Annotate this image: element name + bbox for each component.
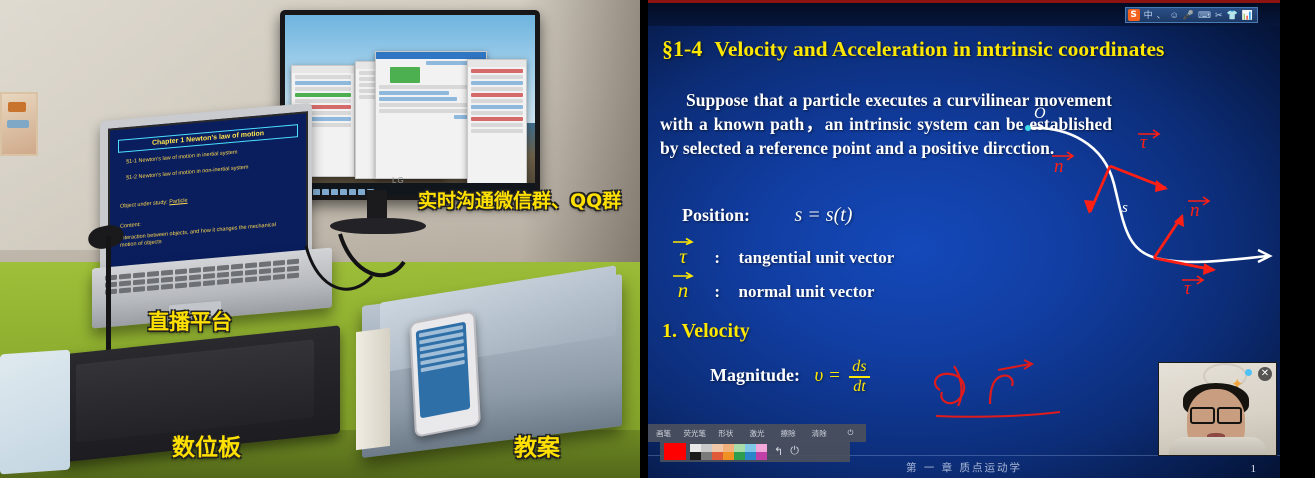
position-label: Position: [682,205,750,225]
definition-normal: n : normal unit vector [670,278,874,303]
classroom-desk-photo: LG Chapter 1 Newton's law of motion §1-1… [0,0,640,478]
ime-screenshot-icon[interactable]: ✂ [1215,9,1223,21]
position-equation: s = s(t) [795,204,853,226]
magnitude-row: Magnitude: υ = ds dt [710,358,870,396]
slide-footer-text: 第 一 章 质点运动学 [906,460,1022,475]
laptop-bullet-2-label: Content: [120,222,141,230]
origin-label: O [1034,105,1046,122]
caption-live-platform: 直播平台 [148,306,232,336]
laptop-screen: Chapter 1 Newton's law of motion §1-1 Ne… [108,111,308,272]
monitor-brand-label: LG [392,176,405,185]
monitor-base [330,218,426,234]
ime-voice-icon[interactable]: 🎤 [1183,9,1194,21]
caption-lesson-plan: 教案 [514,428,560,462]
annotation-color-palette[interactable]: ↰ ⏻ [660,441,850,462]
ime-chinese-mode-icon[interactable]: 中 [1144,9,1153,21]
ime-toolbox-icon[interactable]: 📊 [1242,9,1253,21]
definition-normal-text: normal unit vector [739,282,875,301]
fraction-numerator: ds [849,358,869,376]
qq-group-member-window [467,59,527,195]
slide-section-number: §1-4 [662,36,702,61]
sogou-logo-icon[interactable]: S [1128,9,1140,21]
undo-icon[interactable]: ↰ [774,445,783,458]
screen-capture: LG Chapter 1 Newton's law of motion §1-1… [0,0,1315,478]
laptop-bullet-1-value: Particle [169,198,187,206]
magnitude-variable: υ = [815,365,841,386]
slide-title: §1-4Velocity and Acceleration in intrins… [662,36,1262,62]
velocity-heading: 1. Velocity [662,320,750,343]
palette-power-icon[interactable]: ⏻ [790,445,799,458]
definition-tangential: τ : tangential unit vector [670,244,894,269]
wall-poster [0,92,38,156]
anno-tool-laser[interactable]: 激光 [741,428,772,439]
glasses-icon [1190,407,1242,420]
external-monitor [280,10,540,200]
right-black-margin [1280,0,1315,478]
tau-vector-symbol: τ [670,244,696,269]
red-ink-annotation [928,358,1088,428]
pip-shoulders [1169,437,1267,456]
top-red-strip [648,0,1280,3]
lesson-plan-book-pages [356,328,390,450]
magnitude-fraction: ds dt [849,358,869,396]
color-swatch-grid[interactable] [690,444,767,460]
ime-skin-icon[interactable]: 👕 [1227,9,1238,21]
magnitude-label: Magnitude: [710,365,800,385]
sogou-ime-toolbar[interactable]: S 中 、 ☺ 🎤 ⌨ ✂ 👕 📊 [1125,7,1258,23]
close-icon[interactable]: ✕ [1258,367,1272,381]
laptop-bullet-1-label: Object under study: [120,200,168,210]
intrinsic-coordinates-diagram: O s τ n n τ [1018,100,1280,300]
tau-label-upper: τ [1140,132,1148,153]
arc-length-label: s [1122,200,1128,216]
laptop-bullet-2-value: Interaction between objects, and how it … [120,221,290,250]
anno-tool-pen[interactable]: 画笔 [648,428,679,439]
definition-colon-1: : [700,248,734,268]
n-label-upper: n [1054,156,1064,177]
pip-status-dot [1245,369,1252,376]
ime-keyboard-icon[interactable]: ⌨ [1198,9,1211,21]
slide-title-text: Velocity and Acceleration in intrinsic c… [714,37,1164,61]
laptop-slide-line-2: §1-2 Newton's law of motion in non-inert… [126,164,248,181]
caption-wechat-qq-groups: 实时沟通微信群、QQ群 [418,186,621,213]
anno-tool-highlighter[interactable]: 荧光笔 [679,428,710,439]
slide-page-number: 1 [1251,463,1257,475]
current-color-swatch[interactable] [664,443,686,460]
smartphone-screen [416,322,471,419]
laptop-slide-line-1: §1-1 Newton's law of motion in inertial … [126,149,237,165]
position-row: Position: s = s(t) [682,204,852,227]
tau-label-lower: τ [1184,278,1192,299]
annotation-toolbar[interactable]: 画笔 荧光笔 形状 激光 擦除 清除 ⏻ [648,424,866,442]
ime-punctuation-icon[interactable]: 、 [1157,9,1166,21]
vector-arrow-icon [672,270,694,279]
presenter-camera-pip[interactable]: ✦ ✕ [1158,362,1277,456]
anno-power-icon[interactable]: ⏻ [835,428,866,438]
powerpoint-slide-share: §1-4Velocity and Acceleration in intrins… [648,0,1280,478]
anno-tool-shape[interactable]: 形状 [710,428,741,439]
n-label-lower: n [1190,200,1200,221]
monitor-screen [285,15,535,195]
anno-tool-clear[interactable]: 清除 [804,428,835,439]
definition-tangential-text: tangential unit vector [739,248,895,267]
n-vector-symbol: n [670,278,696,303]
anno-tool-eraser[interactable]: 擦除 [773,428,804,439]
caption-drawing-tablet: 数位板 [172,428,241,462]
vector-arrow-icon [672,236,694,245]
tablet-side-sheet [0,350,70,475]
laptop-slide-title: Chapter 1 Newton's law of motion [118,124,298,153]
ime-emoji-icon[interactable]: ☺ [1170,9,1179,21]
definition-colon-2: : [700,282,734,302]
fraction-denominator: dt [849,376,869,396]
